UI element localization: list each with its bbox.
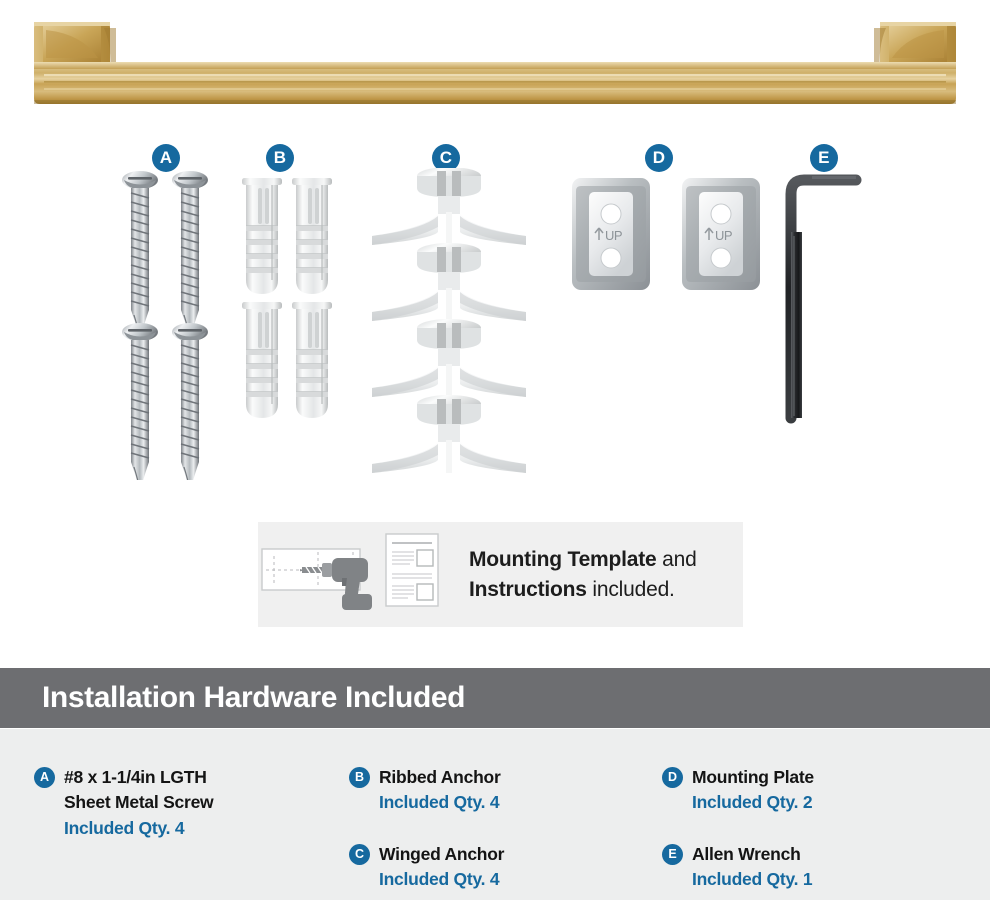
legend-item-a: A #8 x 1-1/4in LGTH Sheet Metal Screw In… [34,765,334,841]
legend-name-a-line2: Sheet Metal Screw [64,790,334,815]
hardware-legend-panel: A #8 x 1-1/4in LGTH Sheet Metal Screw In… [0,729,990,900]
legend-item-b: B Ribbed Anchor Included Qty. 4 [349,765,649,816]
legend-item-c: C Winged Anchor Included Qty. 4 [349,842,649,893]
legend-qty-b: Included Qty. 4 [379,790,649,815]
mounting-template-bold-2: Instructions [469,578,587,601]
legend-badge-d: D [662,767,683,788]
section-title: Installation Hardware Included [42,681,465,715]
legend-qty-d: Included Qty. 2 [692,790,972,815]
legend-badge-a: A [34,767,55,788]
ribbed-anchors-image [238,176,338,426]
legend-qty-c: Included Qty. 4 [379,867,649,892]
mounting-template-bold-1: Mounting Template [469,548,657,571]
callout-badge-b: B [266,144,294,172]
legend-column-1: A #8 x 1-1/4in LGTH Sheet Metal Screw In… [34,765,334,867]
legend-name-d: Mounting Plate [692,765,972,790]
mounting-template-banner: Mounting Template and Instructions inclu… [258,522,743,627]
mounting-template-plain-2: included. [587,578,675,601]
legend-qty-e: Included Qty. 1 [692,867,972,892]
legend-name-e: Allen Wrench [692,842,972,867]
mounting-template-text: Mounting Template and Instructions inclu… [469,545,697,605]
legend-item-e: E Allen Wrench Included Qty. 1 [662,842,972,893]
section-header-bar: Installation Hardware Included [0,668,990,728]
product-hero-image [0,0,990,118]
hardware-parts-area: A B C D E [0,118,990,518]
legend-name-b: Ribbed Anchor [379,765,649,790]
legend-badge-e: E [662,844,683,865]
legend-column-3: D Mounting Plate Included Qty. 2 E Allen… [662,765,972,919]
winged-anchors-image [364,168,534,473]
mounting-template-graphics [258,522,463,627]
mounting-template-plain-1: and [657,548,697,571]
callout-badge-d: D [645,144,673,172]
legend-qty-a: Included Qty. 4 [64,816,334,841]
legend-badge-b: B [349,767,370,788]
product-infographic: A B C D E [0,0,990,920]
callout-badge-e: E [810,144,838,172]
sheet-metal-screws-image [118,170,228,480]
mounting-plates-image: UP [572,174,767,304]
legend-item-d: D Mounting Plate Included Qty. 2 [662,765,972,816]
towel-bar-rail [34,62,956,104]
callout-badge-a: A [152,144,180,172]
legend-badge-c: C [349,844,370,865]
drill-icon [262,549,372,610]
allen-wrench-image [782,172,862,427]
instruction-sheet-icon [386,534,438,606]
legend-name-a-line1: #8 x 1-1/4in LGTH [64,765,334,790]
legend-column-2: B Ribbed Anchor Included Qty. 4 C Winged… [349,765,649,919]
legend-name-c: Winged Anchor [379,842,649,867]
towel-bar-illustration [0,0,990,118]
